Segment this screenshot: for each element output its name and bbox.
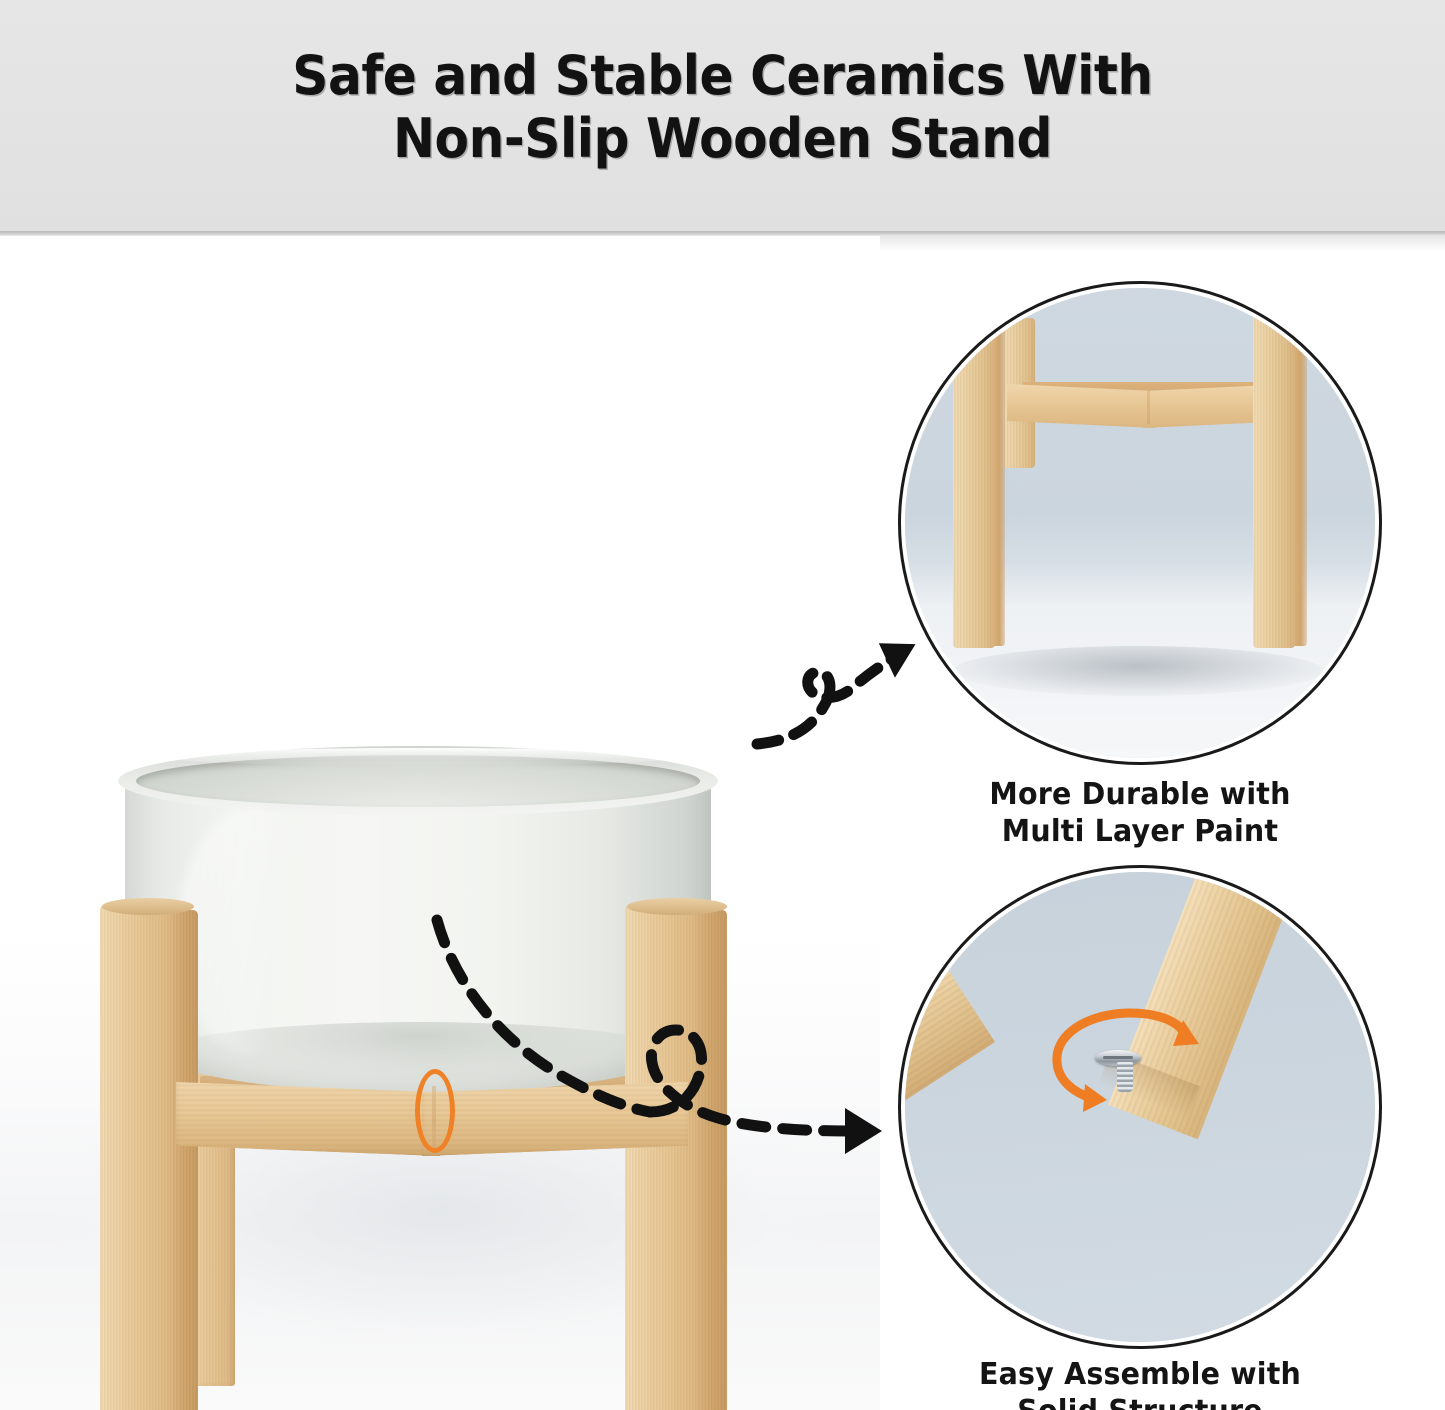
mini-stand-shadow <box>953 646 1323 696</box>
header-band: Safe and Stable Ceramics With Non-Slip W… <box>0 0 1445 234</box>
bowl-highlight <box>178 806 328 1056</box>
rotation-arrow-icon <box>1033 1004 1223 1134</box>
durability-inset <box>905 288 1375 758</box>
infographic-page: Safe and Stable Ceramics With Non-Slip W… <box>0 0 1445 1410</box>
mini-front-right-leg <box>1253 308 1295 648</box>
stand-front-left-leg-side-front <box>172 910 198 1410</box>
joint-highlight-ellipse <box>415 1069 455 1153</box>
page-title: Safe and Stable Ceramics With Non-Slip W… <box>51 44 1395 170</box>
stand-front-rail-left-front <box>176 1082 440 1156</box>
stand-front-right-leg-side-front <box>697 910 727 1410</box>
mini-front-left-leg <box>953 308 995 648</box>
mini-rail-center-seam <box>1147 388 1150 424</box>
mini-front-left-leg-side <box>991 312 1005 646</box>
stand-front-right-leg-front <box>625 904 703 1410</box>
stand-front-right-leg-top-front <box>627 898 727 915</box>
main-product-stage <box>0 236 880 1410</box>
mini-front-right-leg-side <box>1291 312 1307 646</box>
stand-front-left-leg-top-front <box>102 898 194 915</box>
mini-front-rail-left <box>1007 384 1155 428</box>
stand-front-rail-right-front <box>422 1082 688 1156</box>
bowl-rim-highlight <box>162 748 682 766</box>
stand-front-left-leg-front <box>100 904 178 1410</box>
assembly-inset-caption: Easy Assemble with Solid Structure <box>917 1356 1364 1410</box>
durability-inset-caption: More Durable with Multi Layer Paint <box>917 776 1364 850</box>
assembly-inset <box>905 872 1375 1342</box>
